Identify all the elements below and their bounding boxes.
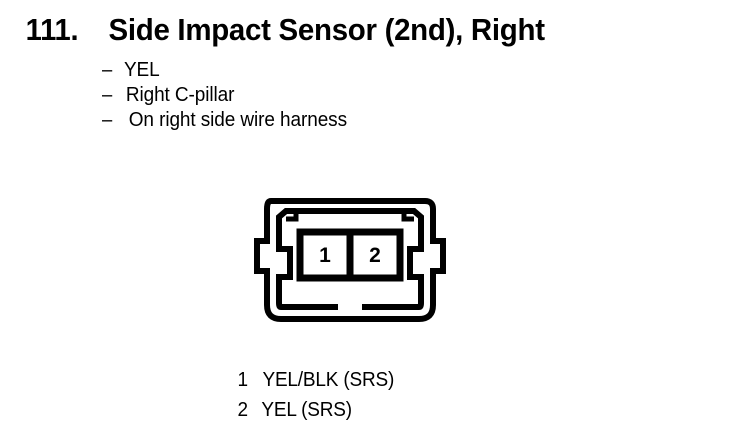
- heading-number: 111.: [26, 12, 79, 48]
- list-item-label: YEL: [124, 58, 160, 83]
- dash-icon: –: [102, 83, 121, 108]
- list-item-label: Right C-pillar: [126, 83, 234, 108]
- cavity-number-2: 2: [369, 244, 381, 267]
- dash-icon: –: [102, 108, 121, 133]
- list-item-label: On right side wire harness: [129, 108, 347, 133]
- list-item: – Right C-pillar: [102, 83, 353, 108]
- legend-row: 1 YEL/BLK (SRS): [237, 365, 398, 395]
- pin-legend: 1 YEL/BLK (SRS) 2 YEL (SRS): [237, 365, 398, 425]
- legend-row: 2 YEL (SRS): [237, 395, 398, 425]
- legend-pin-number: 1: [238, 365, 259, 395]
- cavity-number-1: 1: [319, 244, 331, 267]
- connector-latch-detail-right: [404, 211, 414, 219]
- page-title: Side Impact Sensor (2nd), Right: [109, 12, 545, 48]
- legend-pin-number: 2: [238, 395, 259, 425]
- detail-list: – YEL – Right C-pillar – On right side w…: [102, 58, 353, 133]
- connector-latch-detail-left: [286, 211, 296, 219]
- list-item: – On right side wire harness: [102, 108, 353, 133]
- legend-wire-label: YEL (SRS): [261, 395, 352, 425]
- dash-icon: –: [102, 58, 121, 83]
- connector-outline-svg: 1 2: [250, 185, 450, 333]
- connector-diagram: 1 2: [250, 185, 450, 333]
- page-heading: 111. Side Impact Sensor (2nd), Right: [24, 12, 556, 48]
- list-item: – YEL: [102, 58, 353, 83]
- legend-wire-label: YEL/BLK (SRS): [262, 365, 394, 395]
